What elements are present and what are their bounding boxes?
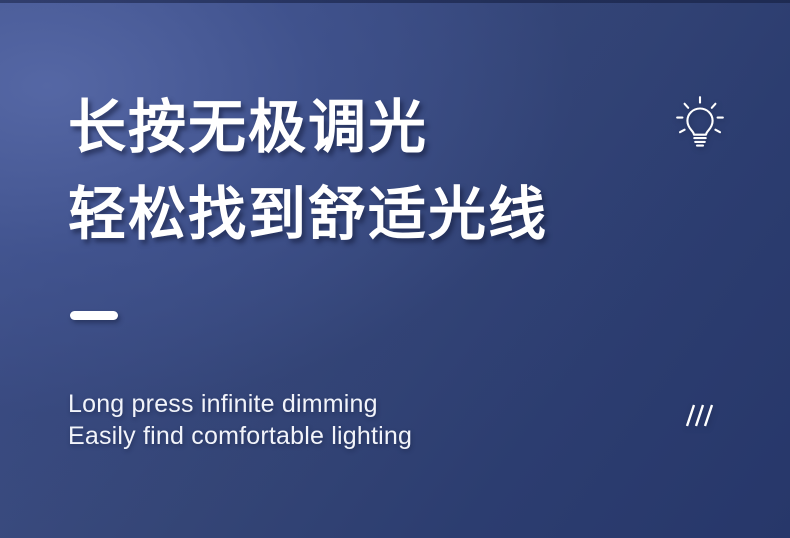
- promo-banner: 长按无极调光 轻松找到舒适光线 Long press infinite dimm…: [0, 0, 790, 538]
- headline-line-1: 长按无极调光: [68, 84, 668, 171]
- headline-line-2: 轻松找到舒适光线: [68, 171, 668, 258]
- subtitle-block: Long press infinite dimming Easily find …: [68, 388, 588, 452]
- subtitle-line-2: Easily find comfortable lighting: [68, 420, 588, 452]
- subtitle-line-1: Long press infinite dimming: [68, 388, 588, 420]
- headline-block: 长按无极调光 轻松找到舒适光线: [68, 84, 668, 258]
- lightbulb-icon: [670, 92, 730, 156]
- divider-dash: [70, 311, 118, 320]
- top-edge-line: [0, 0, 790, 3]
- slashes-decoration-icon: [678, 398, 720, 432]
